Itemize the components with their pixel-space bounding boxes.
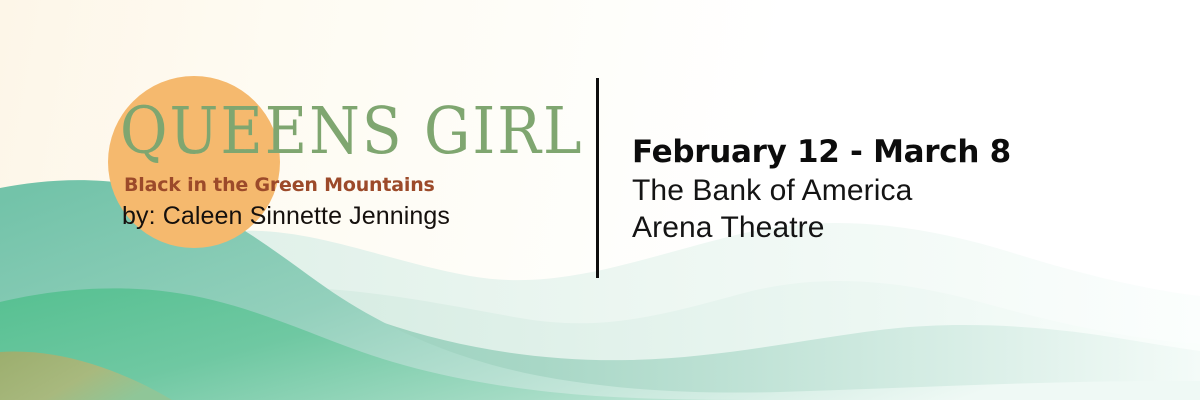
show-byline: by: Caleen Sinnette Jennings <box>122 201 590 231</box>
promo-banner: QUEENS GIRL Black in the Green Mountains… <box>0 0 1200 400</box>
date-range: February 12 - March 8 <box>632 133 1102 171</box>
show-title: QUEENS GIRL <box>120 97 590 164</box>
show-identity-block: QUEENS GIRL Black in the Green Mountains… <box>120 104 590 231</box>
show-subtitle: Black in the Green Mountains <box>124 174 590 196</box>
wave-pale-far <box>0 223 1200 400</box>
venue-line-1: The Bank of America <box>632 173 1102 208</box>
show-details-block: February 12 - March 8 The Bank of Americ… <box>632 133 1102 245</box>
wave-green-lower <box>0 288 1200 400</box>
venue-line-2: Arena Theatre <box>632 210 1102 245</box>
wave-olive-corner <box>0 352 172 400</box>
wave-mid-teal <box>0 227 1200 400</box>
vertical-divider <box>596 78 599 278</box>
wave-light-right <box>0 281 1200 400</box>
